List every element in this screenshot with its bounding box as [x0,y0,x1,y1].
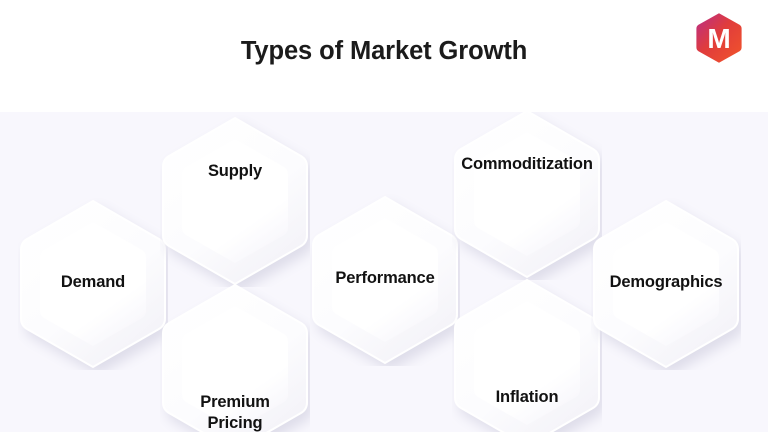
hex-label-demographics: Demographics [569,272,763,293]
hex-label-demand: Demand [0,272,190,293]
page-title: Types of Market Growth [0,36,768,66]
hex-label-supply: Supply [138,161,332,182]
marketing91-hexagon-logo: M [694,12,744,64]
hex-node-inflation[interactable]: Inflation [452,277,602,432]
hex-node-premium-pricing[interactable]: Premium Pricing [160,282,310,432]
hexagon-shape [160,115,310,287]
hexagon-shape [452,277,602,432]
hex-node-demographics[interactable]: Demographics [591,198,741,370]
slide-header: Types of Market Growth M [0,0,768,112]
hex-label-performance: Performance [288,268,482,289]
hex-node-supply[interactable]: Supply [160,115,310,287]
hex-label-inflation: Inflation [430,387,624,408]
hex-label-premium-pricing: Premium Pricing [138,392,332,432]
hex-node-commoditization[interactable]: Commoditization [452,112,602,280]
hexagon-shape [452,112,602,280]
diagram-area: Demand [0,112,768,432]
hex-label-commoditization: Commoditization [430,154,624,175]
logo-letter: M [707,23,730,54]
slide-canvas: Demand [0,0,768,432]
hex-node-performance[interactable]: Performance [310,194,460,366]
hex-node-demand[interactable]: Demand [18,198,168,370]
